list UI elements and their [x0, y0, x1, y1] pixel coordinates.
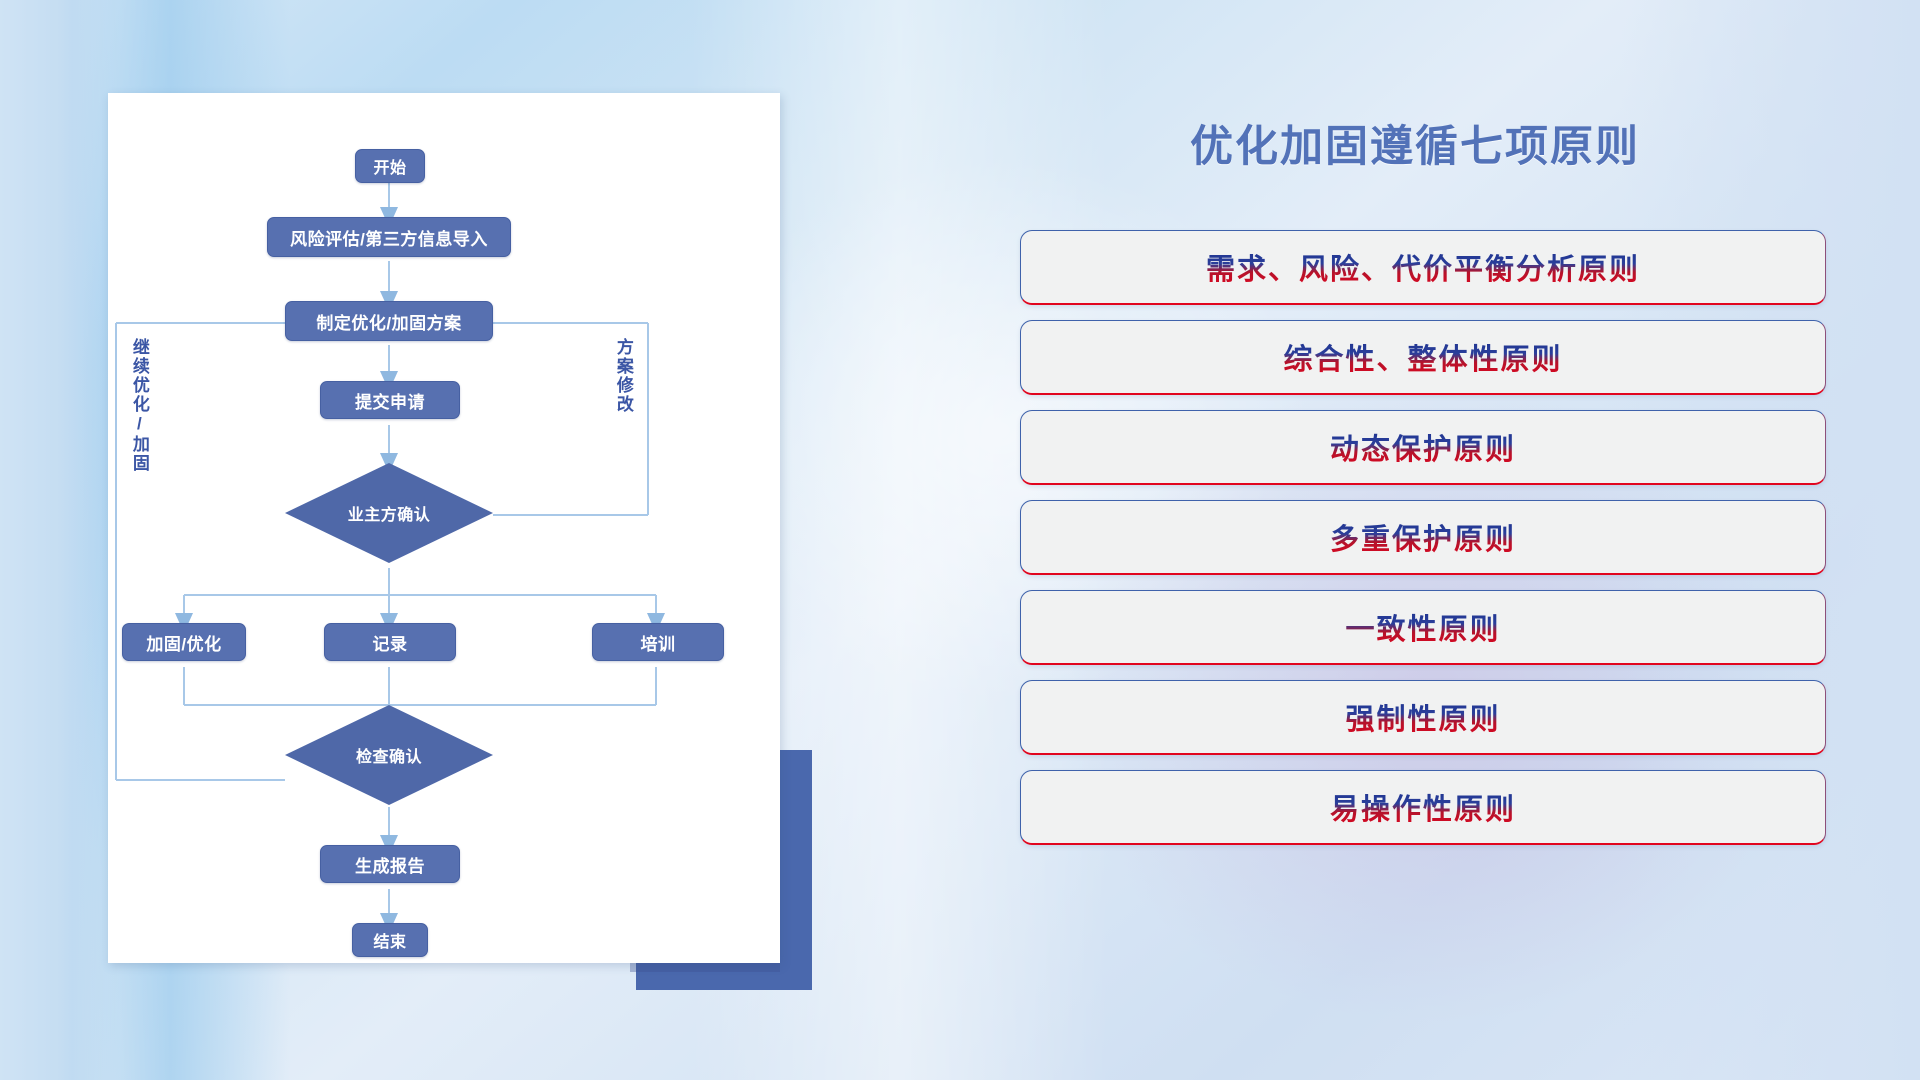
principles-pane: 优化加固遵循七项原则 需求、风险、代价平衡分析原则 综合性、整体性原则 动态保护… — [1020, 0, 1920, 1080]
flow-node-submit-application[interactable]: 提交申请 — [320, 381, 460, 419]
principle-item[interactable]: 多重保护原则 — [1020, 500, 1826, 575]
principles-list: 需求、风险、代价平衡分析原则 综合性、整体性原则 动态保护原则 多重保护原则 一… — [1020, 230, 1826, 860]
flow-node-reinforce-optimize[interactable]: 加固/优化 — [122, 623, 246, 661]
flow-node-make-plan[interactable]: 制定优化/加固方案 — [285, 301, 493, 341]
principle-label: 强制性原则 — [1345, 696, 1500, 738]
principle-item[interactable]: 易操作性原则 — [1020, 770, 1826, 845]
principle-label: 动态保护原则 — [1330, 426, 1516, 468]
principle-label: 一致性原则 — [1345, 606, 1500, 648]
flowchart-card: 开始 风险评估/第三方信息导入 制定优化/加固方案 提交申请 业主方确认 加固/… — [108, 93, 780, 963]
flow-node-label: 检查确认 — [356, 743, 422, 767]
background-band-left — [0, 0, 120, 1080]
flow-node-end[interactable]: 结束 — [352, 923, 428, 957]
principle-item[interactable]: 一致性原则 — [1020, 590, 1826, 665]
principle-label: 需求、风险、代价平衡分析原则 — [1206, 246, 1640, 288]
flow-node-generate-report[interactable]: 生成报告 — [320, 845, 460, 883]
principle-label: 易操作性原则 — [1330, 786, 1516, 828]
flow-edge-label-continue-optimize: 继续优化/加固 — [130, 338, 148, 478]
flow-node-risk-assessment[interactable]: 风险评估/第三方信息导入 — [267, 217, 511, 257]
principle-label: 综合性、整体性原则 — [1283, 336, 1562, 378]
flow-edge-label-plan-revision: 方案修改 — [614, 338, 632, 448]
flow-node-owner-confirm[interactable]: 业主方确认 — [285, 463, 493, 563]
principle-item[interactable]: 综合性、整体性原则 — [1020, 320, 1826, 395]
flow-node-training[interactable]: 培训 — [592, 623, 724, 661]
principle-item[interactable]: 强制性原则 — [1020, 680, 1826, 755]
flow-node-check-confirm[interactable]: 检查确认 — [285, 705, 493, 805]
flow-node-label: 业主方确认 — [348, 501, 431, 525]
principle-label: 多重保护原则 — [1330, 516, 1516, 558]
slide-canvas: 开始 风险评估/第三方信息导入 制定优化/加固方案 提交申请 业主方确认 加固/… — [0, 0, 1920, 1080]
flow-node-record[interactable]: 记录 — [324, 623, 456, 661]
flow-node-start[interactable]: 开始 — [355, 149, 425, 183]
panel-title: 优化加固遵循七项原则 — [1020, 112, 1810, 174]
principle-item[interactable]: 动态保护原则 — [1020, 410, 1826, 485]
principle-item[interactable]: 需求、风险、代价平衡分析原则 — [1020, 230, 1826, 305]
